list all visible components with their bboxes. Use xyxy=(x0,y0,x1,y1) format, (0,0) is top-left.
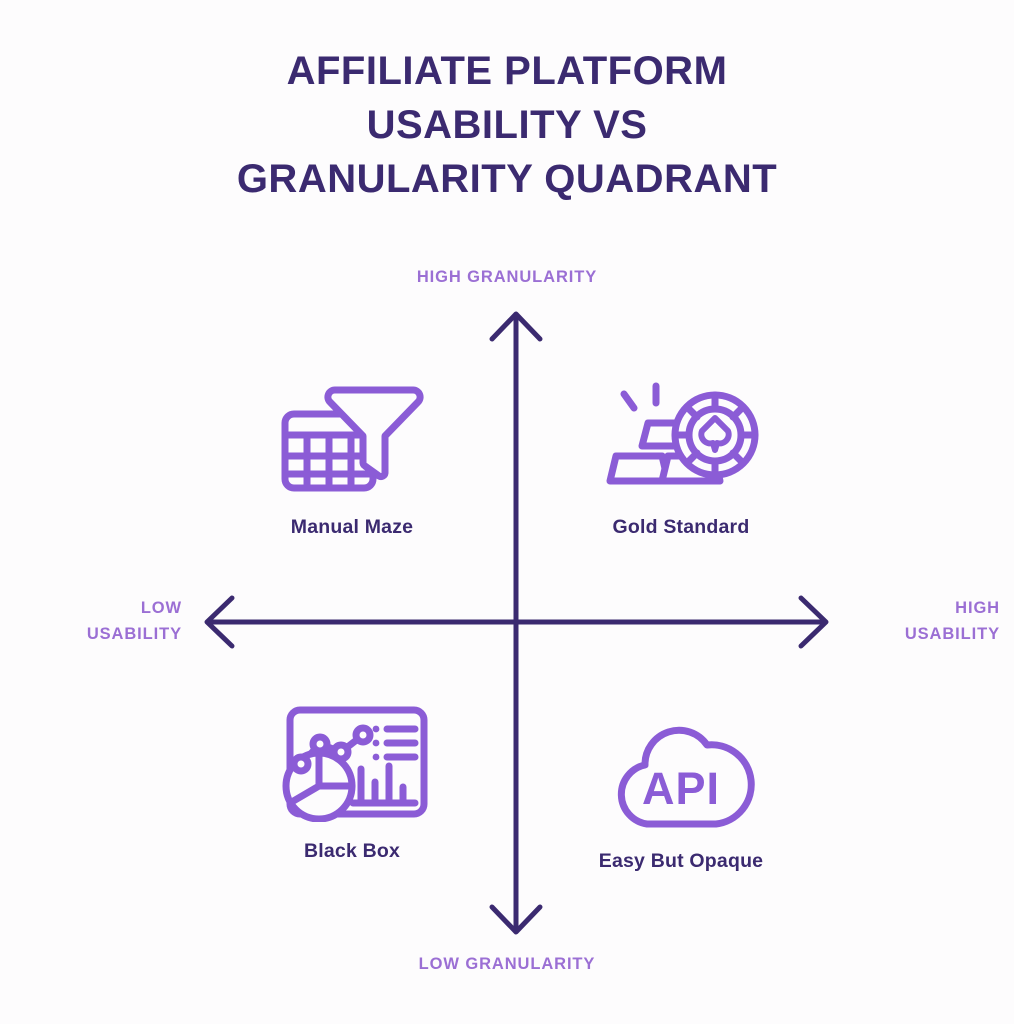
quadrant-top-right: Gold Standard xyxy=(531,373,831,539)
quadrant-bottom-right-label: Easy But Opaque xyxy=(599,850,763,873)
axis-label-high-granularity: HIGH GRANULARITY xyxy=(0,264,1014,290)
gold-bars-casino-chip-icon xyxy=(604,378,759,498)
axis-label-low-granularity: LOW GRANULARITY xyxy=(0,951,1014,977)
quadrant-bottom-left-label: Black Box xyxy=(304,840,400,863)
quadrant-bottom-right: API Easy But Opaque xyxy=(531,707,831,873)
quadrant-top-right-icon-wrap xyxy=(604,373,759,498)
quadrant-infographic: AFFILIATE PLATFORM USABILITY VS GRANULAR… xyxy=(0,0,1014,1024)
analytics-dashboard-icon xyxy=(275,704,430,822)
axis-label-low-usability: LOW USABILITY xyxy=(16,595,182,647)
quadrant-top-left-icon-wrap xyxy=(277,373,427,498)
quadrant-top-left: Manual Maze xyxy=(202,373,502,539)
api-cloud-icon: API xyxy=(601,724,761,832)
quadrant-axes xyxy=(0,0,1014,1024)
axis-label-high-usability: HIGH USABILITY xyxy=(840,595,1000,647)
quadrant-top-left-label: Manual Maze xyxy=(291,516,413,539)
spreadsheet-funnel-icon xyxy=(277,378,427,498)
quadrant-bottom-left: Black Box xyxy=(202,697,502,863)
quadrant-bottom-left-icon-wrap xyxy=(275,697,430,822)
api-text: API xyxy=(642,763,720,814)
quadrant-bottom-right-icon-wrap: API xyxy=(601,707,761,832)
quadrant-top-right-label: Gold Standard xyxy=(613,516,750,539)
